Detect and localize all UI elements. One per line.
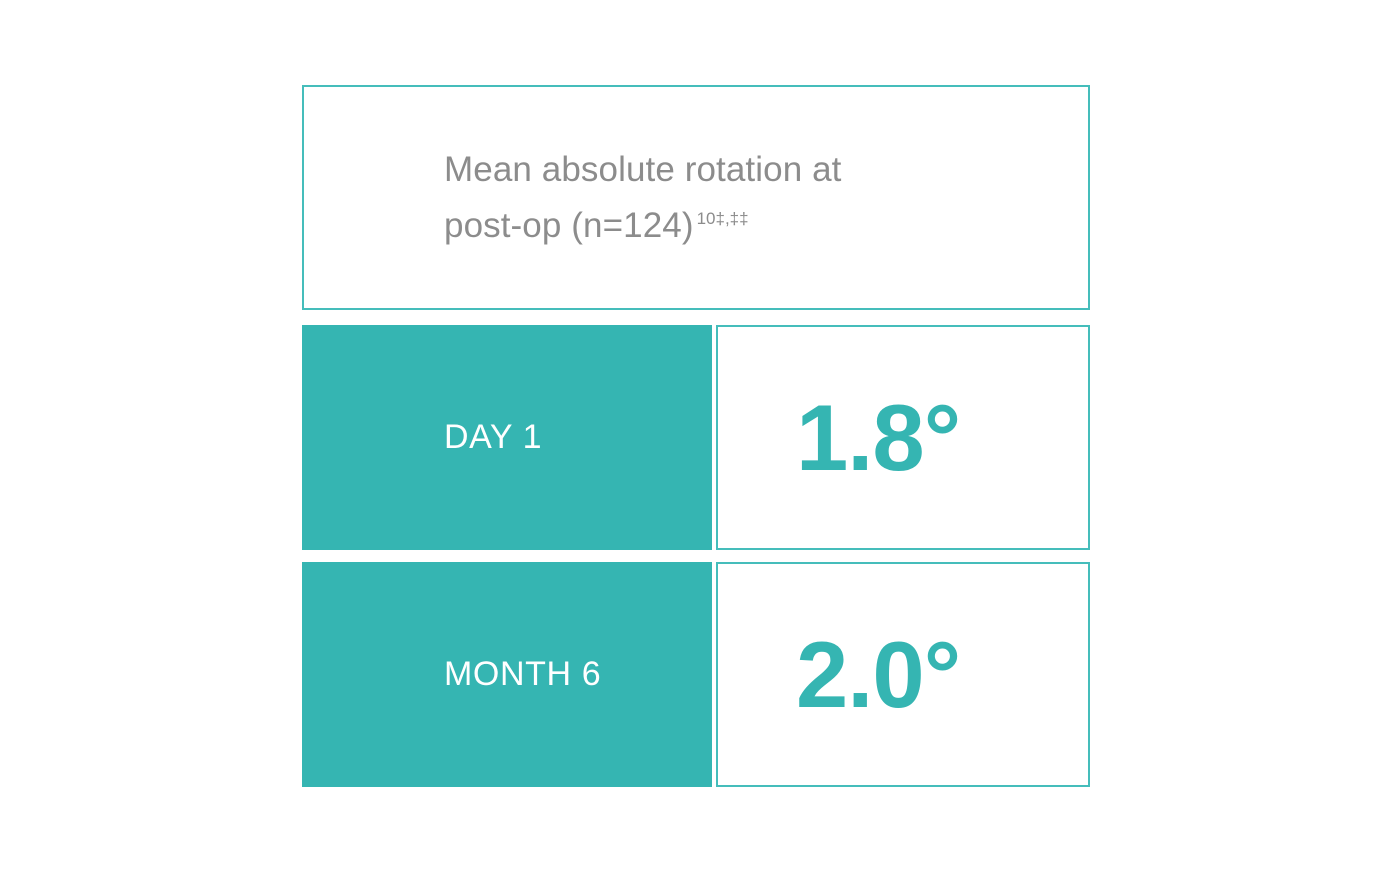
page-title: Mean absolute rotation at post-op (n=124… [304,142,861,254]
title-footnote-superscript: 10‡,‡‡ [694,209,749,228]
stat-label-day-1: DAY 1 [302,418,542,457]
title-line-1: Mean absolute rotation at [444,150,841,189]
stat-label-cell-day-1: DAY 1 [302,325,712,550]
table-row: DAY 1 1.8° [302,325,1090,550]
table-row: MONTH 6 2.0° [302,562,1090,787]
stat-label-month-6: MONTH 6 [302,655,601,694]
stat-infographic: Mean absolute rotation at post-op (n=124… [302,85,1090,787]
stat-label-cell-month-6: MONTH 6 [302,562,712,787]
stat-value-month-6: 2.0° [718,628,960,722]
stat-value-cell-day-1: 1.8° [716,325,1090,550]
stat-value-day-1: 1.8° [718,391,960,485]
title-line-2: post-op (n=124) [444,206,694,245]
title-card: Mean absolute rotation at post-op (n=124… [302,85,1090,310]
stat-value-cell-month-6: 2.0° [716,562,1090,787]
